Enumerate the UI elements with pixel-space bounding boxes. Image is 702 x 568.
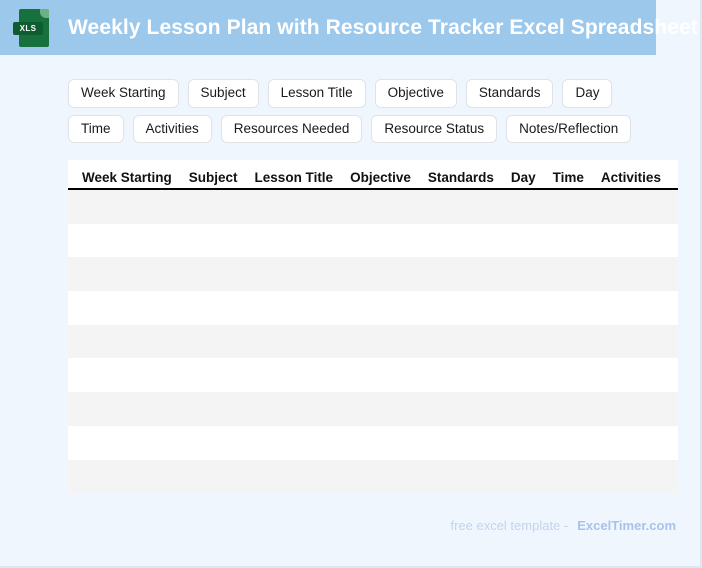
field-chip-list: Week Starting Subject Lesson Title Objec… bbox=[68, 79, 668, 143]
field-chip-week-starting[interactable]: Week Starting bbox=[68, 79, 179, 108]
field-chip-subject[interactable]: Subject bbox=[188, 79, 259, 108]
field-chip-activities[interactable]: Activities bbox=[133, 115, 212, 144]
field-chip-time[interactable]: Time bbox=[68, 115, 124, 144]
xls-file-icon: XLS bbox=[19, 9, 49, 47]
footer-muted-text: free excel template - bbox=[450, 518, 568, 533]
footer-brand-link[interactable]: ExcelTimer.com bbox=[577, 518, 676, 533]
field-chip-resources-needed[interactable]: Resources Needed bbox=[221, 115, 363, 144]
page-root: XLS Weekly Lesson Plan with Resource Tra… bbox=[0, 0, 702, 568]
table-row[interactable] bbox=[68, 291, 678, 325]
spreadsheet-preview-table: Week Starting Subject Lesson Title Objec… bbox=[68, 160, 678, 493]
table-row[interactable] bbox=[68, 190, 678, 224]
table-column-header-objective: Objective bbox=[350, 171, 411, 189]
xls-file-icon-label: XLS bbox=[13, 22, 43, 35]
page-title: Weekly Lesson Plan with Resource Tracker… bbox=[68, 16, 698, 40]
table-column-header-week-starting: Week Starting bbox=[82, 171, 172, 189]
table-body bbox=[68, 190, 678, 493]
field-chip-day[interactable]: Day bbox=[562, 79, 612, 108]
xls-file-icon-fold bbox=[40, 9, 49, 18]
table-column-header-subject: Subject bbox=[189, 171, 238, 189]
table-column-header-time: Time bbox=[553, 171, 584, 189]
table-column-header-standards: Standards bbox=[428, 171, 494, 189]
footer-attribution: free excel template - ExcelTimer.com bbox=[450, 518, 676, 533]
field-chip-notes-reflection[interactable]: Notes/Reflection bbox=[506, 115, 631, 144]
table-row[interactable] bbox=[68, 460, 678, 494]
header-banner: XLS Weekly Lesson Plan with Resource Tra… bbox=[0, 0, 656, 55]
table-column-header-activities: Activities bbox=[601, 171, 661, 189]
table-row[interactable] bbox=[68, 358, 678, 392]
table-row[interactable] bbox=[68, 257, 678, 291]
field-chip-standards[interactable]: Standards bbox=[466, 79, 554, 108]
table-header-row: Week Starting Subject Lesson Title Objec… bbox=[68, 160, 678, 190]
table-column-header-day: Day bbox=[511, 171, 536, 189]
field-chip-lesson-title[interactable]: Lesson Title bbox=[268, 79, 366, 108]
field-chip-objective[interactable]: Objective bbox=[375, 79, 457, 108]
field-chip-resource-status[interactable]: Resource Status bbox=[371, 115, 497, 144]
table-row[interactable] bbox=[68, 426, 678, 460]
table-row[interactable] bbox=[68, 325, 678, 359]
table-column-header-lesson-title: Lesson Title bbox=[255, 171, 334, 189]
table-row[interactable] bbox=[68, 392, 678, 426]
table-row[interactable] bbox=[68, 224, 678, 258]
